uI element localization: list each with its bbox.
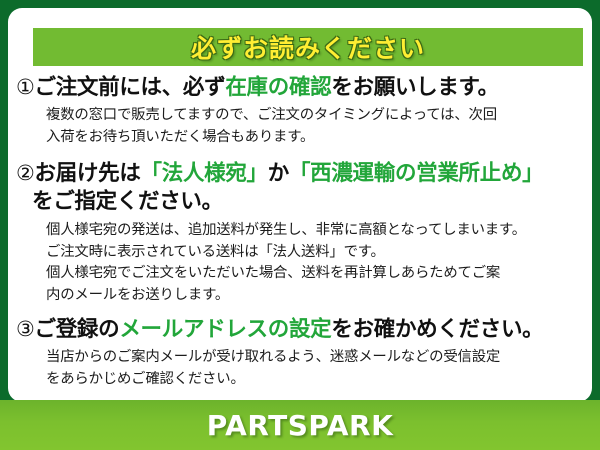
notice-item-3-body: 当店からのご案内メールが受け取れるよう、迷惑メールなどの受信設定 をあらかじめご… xyxy=(16,347,582,390)
item-1-body-line-1: 複数の窓口で販売してますので、ご注文のタイミングによっては、次回 xyxy=(46,105,582,127)
item-number-1: ① xyxy=(16,75,35,99)
page-title: 必ずお読みください xyxy=(191,29,425,65)
notice-item-3-heading: ③ご登録のメールアドレスの設定をお確かめください。 xyxy=(16,316,582,344)
notice-item-1-body: 複数の窓口で販売してますので、ご注文のタイミングによっては、次回 入荷をお待ち頂… xyxy=(16,105,582,148)
notice-item-1: ①ご注文前には、必ず在庫の確認をお願いします。 複数の窓口で販売してますので、ご… xyxy=(16,74,582,148)
item-1-head-post: をお願いします。 xyxy=(331,75,498,100)
footer-bar: PARTSPARK xyxy=(0,400,600,450)
item-1-head-highlight: 在庫の確認 xyxy=(225,75,331,100)
white-panel: 必ずお読みください ①ご注文前には、必ず在庫の確認をお願いします。 複数の窓口で… xyxy=(8,8,592,402)
item-2-head-mid: か xyxy=(268,161,289,186)
notice-item-2-heading-line2: をご指定ください。 xyxy=(16,188,582,216)
item-3-body-line-2: をあらかじめご確認ください。 xyxy=(46,369,582,391)
item-3-head-pre: ご登録の xyxy=(35,317,120,342)
notice-item-1-heading: ①ご注文前には、必ず在庫の確認をお願いします。 xyxy=(16,74,582,102)
notice-item-2: ②お届け先は「法人様宛」か「西濃運輸の営業所止め」 をご指定ください。 個人様宅… xyxy=(16,160,582,306)
item-3-body-line-1: 当店からのご案内メールが受け取れるよう、迷惑メールなどの受信設定 xyxy=(46,347,582,369)
item-number-2: ② xyxy=(16,161,35,185)
item-2-body-line-4: 内のメールをお送りします。 xyxy=(46,285,582,307)
item-1-head-pre: ご注文前には、必ず xyxy=(35,75,226,100)
item-2-head-pre: お届け先は xyxy=(35,161,141,186)
item-2-body-line-1: 個人様宅宛の発送は、追加送料が発生し、非常に高額となってしまいます。 xyxy=(46,220,582,242)
header-bar: 必ずお読みください xyxy=(33,28,583,66)
item-2-body-line-3: 個人様宅宛でご注文をいただいた場合、送料を再計算しあらためてご案 xyxy=(46,263,582,285)
item-2-body-line-2: ご注文時に表示されている送料は「法人送料」です。 xyxy=(46,242,582,264)
notice-item-2-heading: ②お届け先は「法人様宛」か「西濃運輸の営業所止め」 xyxy=(16,160,582,188)
notice-banner: 必ずお読みください ①ご注文前には、必ず在庫の確認をお願いします。 複数の窓口で… xyxy=(0,0,600,450)
notice-item-2-body: 個人様宅宛の発送は、追加送料が発生し、非常に高額となってしまいます。 ご注文時に… xyxy=(16,220,582,306)
notice-item-3: ③ご登録のメールアドレスの設定をお確かめください。 当店からのご案内メールが受け… xyxy=(16,316,582,390)
item-2-head-highlight-2: 「西濃運輸の営業所止め」 xyxy=(289,161,543,186)
brand-logo: PARTSPARK xyxy=(207,409,394,442)
item-2-head-highlight: 「法人様宛」 xyxy=(141,161,268,186)
item-1-body-line-2: 入荷をお待ち頂いただく場合もあります。 xyxy=(46,127,582,149)
item-3-head-post: をお確かめください。 xyxy=(331,317,543,342)
item-3-head-highlight: メールアドレスの設定 xyxy=(119,317,331,342)
notice-content: ①ご注文前には、必ず在庫の確認をお願いします。 複数の窓口で販売してますので、ご… xyxy=(8,72,592,394)
item-number-3: ③ xyxy=(16,317,35,341)
